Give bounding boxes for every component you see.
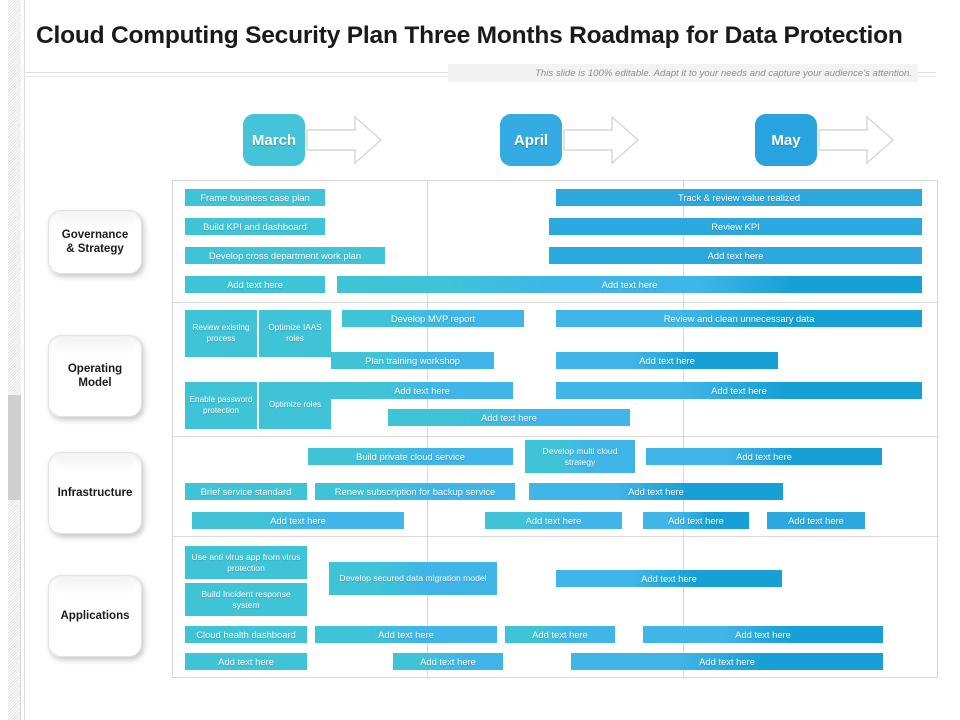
task-bar[interactable]: Add text here	[556, 352, 778, 369]
task-bar[interactable]: Review existing process	[185, 310, 257, 357]
task-bar-label: Build Incident response system	[189, 589, 303, 610]
task-bar[interactable]: Optimize IAAS roles	[259, 310, 331, 357]
task-bar-label: Add text here	[218, 656, 274, 668]
task-bar-label: Add text here	[602, 279, 658, 291]
task-bar-label: Add text here	[378, 629, 434, 641]
task-bar-label: Add text here	[711, 385, 767, 397]
swimlane-label-text: Governance& Strategy	[62, 228, 128, 257]
month-chip-april[interactable]: April	[500, 114, 562, 166]
month-arrow-icon	[817, 114, 895, 166]
task-bar[interactable]: Add text here	[646, 448, 882, 465]
task-bar-label: Renew subscription for backup service	[335, 486, 496, 498]
swimlane-label-text: Applications	[60, 609, 129, 623]
task-bar[interactable]: Use anti virus app from virus protection	[185, 546, 307, 579]
task-bar[interactable]: Add text here	[388, 409, 630, 426]
task-bar[interactable]: Renew subscription for backup service	[315, 483, 515, 500]
task-bar[interactable]: Add text here	[485, 512, 622, 529]
swimlane-divider-line	[173, 302, 939, 303]
task-bar[interactable]: Frame business case plan	[185, 189, 325, 206]
task-bar-label: Cloud health dashboard	[196, 629, 296, 641]
task-bar-label: Build KPI and dashboard	[203, 221, 307, 233]
swimlane-label-text: Infrastructure	[58, 486, 133, 500]
task-bar-label: Add text here	[708, 250, 764, 262]
swimlane-label-operating-model[interactable]: OperatingModel	[48, 335, 142, 417]
month-divider-line	[427, 181, 428, 679]
left-edge-divider	[24, 0, 25, 720]
task-bar[interactable]: Add text here	[549, 247, 922, 264]
task-bar-label: Review existing process	[189, 323, 253, 344]
task-bar[interactable]: Build private cloud service	[308, 448, 513, 465]
task-bar[interactable]: Develop secured data migration model	[329, 562, 497, 595]
task-bar[interactable]: Track & review value realized	[556, 189, 922, 206]
task-bar-label: Add text here	[532, 629, 588, 641]
month-chip-may[interactable]: May	[755, 114, 817, 166]
month-label: April	[514, 132, 548, 149]
month-arrow-icon	[305, 114, 383, 166]
page-title: Cloud Computing Security Plan Three Mont…	[36, 22, 916, 50]
swimlane-label-applications[interactable]: Applications	[48, 575, 142, 657]
left-edge-divider-lower	[20, 500, 21, 720]
swimlane-label-text: OperatingModel	[68, 362, 122, 391]
task-bar[interactable]: Add text here	[315, 626, 497, 643]
task-bar[interactable]: Cloud health dashboard	[185, 626, 307, 643]
task-bar-label: Add text here	[526, 515, 582, 527]
task-bar[interactable]: Add text here	[571, 653, 883, 670]
task-bar-label: Add text here	[227, 279, 283, 291]
task-bar[interactable]: Develop cross department work plan	[185, 247, 385, 264]
task-bar[interactable]: Review KPI	[549, 218, 922, 235]
task-bar-label: Develop multi cloud strategy	[529, 446, 631, 467]
task-bar-label: Develop MVP report	[391, 313, 475, 325]
task-bar[interactable]: Add text here	[529, 483, 783, 500]
task-bar-label: Build private cloud service	[356, 451, 465, 463]
task-bar[interactable]: Develop MVP report	[342, 310, 524, 327]
task-bar-label: Track & review value realized	[678, 192, 800, 204]
task-bar-label: Add text here	[481, 412, 537, 424]
task-bar[interactable]: Optimize roles	[259, 382, 331, 429]
swimlane-label-governance-and-strategy[interactable]: Governance& Strategy	[48, 210, 142, 274]
task-bar-label: Use anti virus app from virus protection	[189, 552, 303, 573]
task-bar-label: Add text here	[736, 451, 792, 463]
task-bar-label: Plan training workshop	[365, 355, 460, 367]
task-bar[interactable]: Add text here	[185, 653, 307, 670]
task-bar[interactable]: Add text here	[331, 382, 513, 399]
left-edge-scroll-thumb[interactable]	[8, 395, 21, 500]
task-bar-label: Add text here	[628, 486, 684, 498]
task-bar[interactable]: Build Incident response system	[185, 583, 307, 616]
task-bar-label: Add text here	[639, 355, 695, 367]
task-bar-label: Add text here	[641, 573, 697, 585]
month-chip-march[interactable]: March	[243, 114, 305, 166]
task-bar-label: Review KPI	[711, 221, 759, 233]
month-arrow-icon	[562, 114, 640, 166]
roadmap-grid: Frame business case planTrack & review v…	[172, 180, 938, 678]
swimlane-label-infrastructure[interactable]: Infrastructure	[48, 452, 142, 534]
task-bar[interactable]: Develop multi cloud strategy	[525, 440, 635, 473]
swimlane-divider-line	[173, 536, 939, 537]
task-bar[interactable]: Enable password protection	[185, 382, 257, 429]
task-bar-label: Add text here	[788, 515, 844, 527]
month-label: May	[771, 132, 800, 149]
task-bar-label: Enable password protection	[189, 395, 253, 416]
task-bar[interactable]: Add text here	[505, 626, 615, 643]
task-bar[interactable]: Add text here	[556, 570, 782, 587]
task-bar[interactable]: Add text here	[767, 512, 865, 529]
task-bar-label: Brief service standard	[201, 486, 292, 498]
task-bar[interactable]: Add text here	[556, 382, 922, 399]
task-bar-label: Add text here	[668, 515, 724, 527]
month-label: March	[252, 132, 296, 149]
task-bar-label: Add text here	[699, 656, 755, 668]
task-bar[interactable]: Add text here	[393, 653, 503, 670]
task-bar-label: Develop cross department work plan	[209, 250, 361, 262]
task-bar-label: Frame business case plan	[200, 192, 309, 204]
task-bar[interactable]: Add text here	[185, 276, 325, 293]
task-bar[interactable]: Add text here	[337, 276, 922, 293]
task-bar-label: Review and clean unnecessary data	[664, 313, 815, 325]
task-bar-label: Add text here	[420, 656, 476, 668]
task-bar[interactable]: Brief service standard	[185, 483, 307, 500]
task-bar-label: Optimize roles	[269, 400, 321, 410]
task-bar[interactable]: Review and clean unnecessary data	[556, 310, 922, 327]
swimlane-divider-line	[173, 436, 939, 437]
task-bar[interactable]: Add text here	[643, 626, 883, 643]
editable-note-banner: This slide is 100% editable. Adapt it to…	[448, 64, 918, 82]
task-bar[interactable]: Plan training workshop	[331, 352, 494, 369]
task-bar-label: Add text here	[394, 385, 450, 397]
task-bar-label: Add text here	[735, 629, 791, 641]
task-bar-label: Develop secured data migration model	[339, 573, 486, 584]
task-bar-label: Add text here	[270, 515, 326, 527]
task-bar-label: Optimize IAAS roles	[263, 323, 327, 344]
task-bar[interactable]: Build KPI and dashboard	[185, 218, 325, 235]
task-bar[interactable]: Add text here	[643, 512, 749, 529]
task-bar[interactable]: Add text here	[192, 512, 404, 529]
editable-note-text: This slide is 100% editable. Adapt it to…	[535, 68, 912, 79]
slide-canvas: Cloud Computing Security Plan Three Mont…	[0, 0, 960, 720]
